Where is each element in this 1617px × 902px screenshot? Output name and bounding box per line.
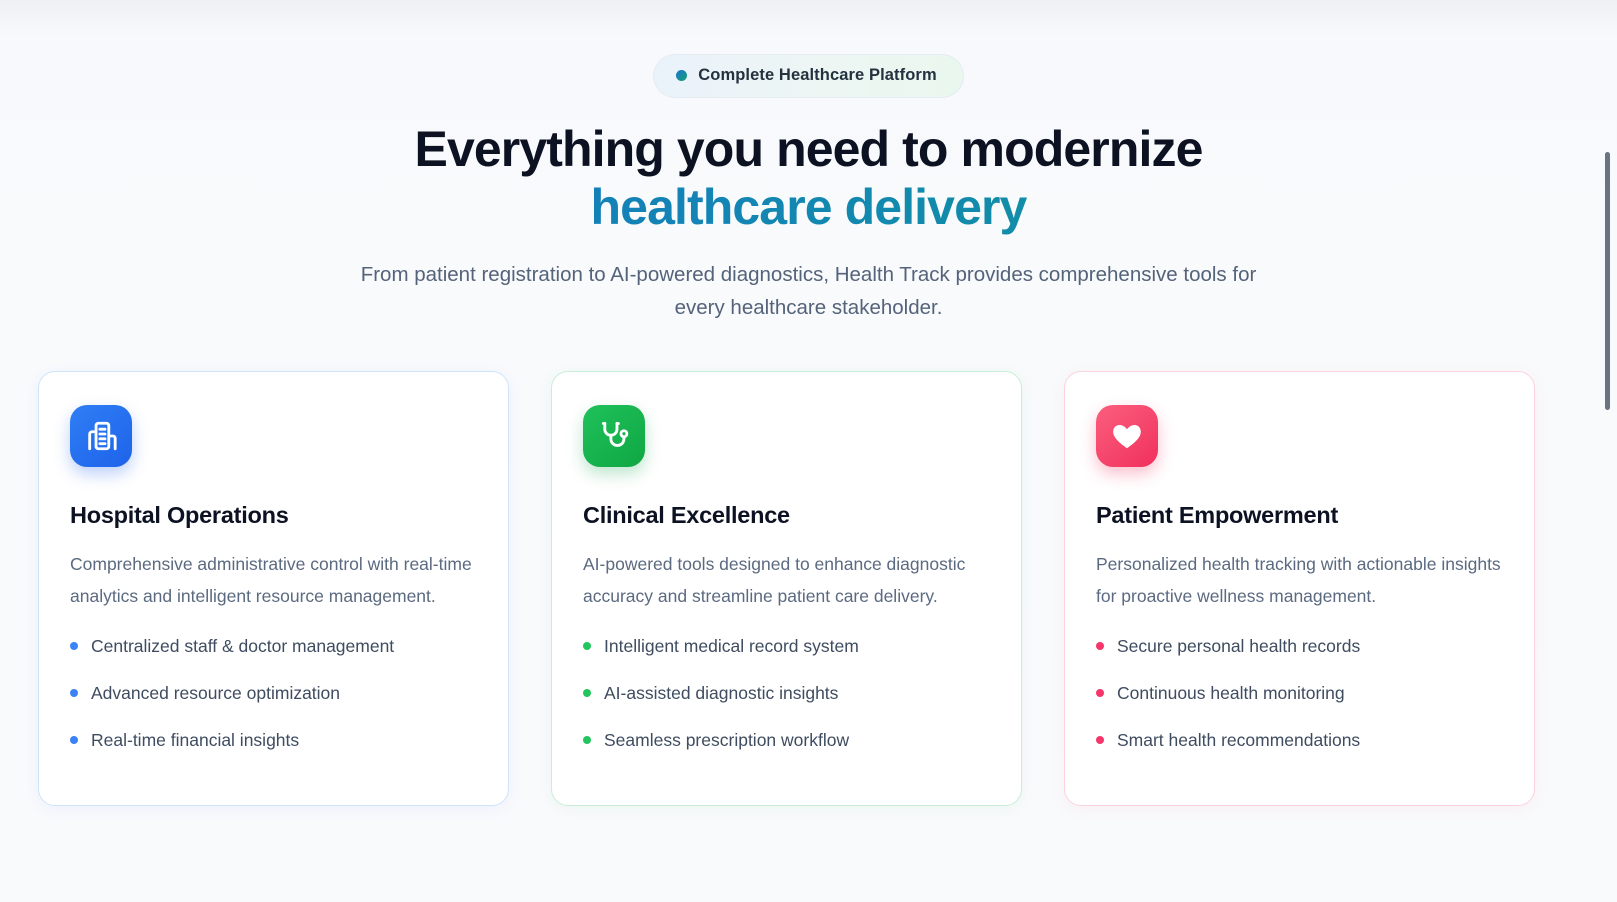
bullet-dot-icon bbox=[583, 689, 591, 697]
card-description: Comprehensive administrative control wit… bbox=[70, 549, 477, 612]
list-item-label: Intelligent medical record system bbox=[604, 634, 859, 658]
list-item: Intelligent medical record system bbox=[583, 634, 990, 658]
status-dot-icon bbox=[676, 70, 687, 81]
card-description: AI-powered tools designed to enhance dia… bbox=[583, 549, 990, 612]
list-item: Seamless prescription workflow bbox=[583, 728, 990, 752]
list-item-label: AI-assisted diagnostic insights bbox=[604, 681, 838, 705]
list-item: Continuous health monitoring bbox=[1096, 681, 1503, 705]
page-subtitle: From patient registration to AI-powered … bbox=[359, 258, 1259, 324]
bullet-dot-icon bbox=[70, 642, 78, 650]
bullet-dot-icon bbox=[583, 642, 591, 650]
card-feature-list: Intelligent medical record system AI-ass… bbox=[583, 634, 990, 752]
feature-card-grid: Hospital Operations Comprehensive admini… bbox=[38, 371, 1549, 806]
bullet-dot-icon bbox=[1096, 736, 1104, 744]
list-item: Centralized staff & doctor management bbox=[70, 634, 477, 658]
card-title: Clinical Excellence bbox=[583, 502, 990, 529]
list-item-label: Continuous health monitoring bbox=[1117, 681, 1345, 705]
list-item: Secure personal health records bbox=[1096, 634, 1503, 658]
list-item: Advanced resource optimization bbox=[70, 681, 477, 705]
scrollbar-thumb[interactable] bbox=[1605, 152, 1610, 410]
page-title-line-1: Everything you need to modernize bbox=[415, 121, 1203, 177]
card-title: Hospital Operations bbox=[70, 502, 477, 529]
card-feature-list: Centralized staff & doctor management Ad… bbox=[70, 634, 477, 752]
platform-badge-label: Complete Healthcare Platform bbox=[698, 66, 936, 85]
list-item-label: Real-time financial insights bbox=[91, 728, 299, 752]
platform-badge: Complete Healthcare Platform bbox=[653, 54, 963, 98]
list-item-label: Secure personal health records bbox=[1117, 634, 1360, 658]
feature-card-clinical-excellence[interactable]: Clinical Excellence AI-powered tools des… bbox=[551, 371, 1022, 806]
page-scrollbar[interactable] bbox=[1602, 0, 1617, 902]
list-item-label: Centralized staff & doctor management bbox=[91, 634, 394, 658]
page-title: Everything you need to modernize healthc… bbox=[0, 120, 1617, 236]
hospital-building-icon bbox=[70, 405, 132, 467]
stethoscope-icon bbox=[583, 405, 645, 467]
list-item-label: Smart health recommendations bbox=[1117, 728, 1360, 752]
card-title: Patient Empowerment bbox=[1096, 502, 1503, 529]
list-item: Smart health recommendations bbox=[1096, 728, 1503, 752]
badge-row: Complete Healthcare Platform bbox=[0, 54, 1617, 98]
card-description: Personalized health tracking with action… bbox=[1096, 549, 1503, 612]
bullet-dot-icon bbox=[70, 689, 78, 697]
heart-icon bbox=[1096, 405, 1158, 467]
list-item-label: Seamless prescription workflow bbox=[604, 728, 849, 752]
page-title-line-2: healthcare delivery bbox=[0, 178, 1617, 236]
list-item: Real-time financial insights bbox=[70, 728, 477, 752]
card-feature-list: Secure personal health records Continuou… bbox=[1096, 634, 1503, 752]
bullet-dot-icon bbox=[1096, 689, 1104, 697]
bullet-dot-icon bbox=[583, 736, 591, 744]
bullet-dot-icon bbox=[70, 736, 78, 744]
bullet-dot-icon bbox=[1096, 642, 1104, 650]
feature-card-hospital-operations[interactable]: Hospital Operations Comprehensive admini… bbox=[38, 371, 509, 806]
list-item: AI-assisted diagnostic insights bbox=[583, 681, 990, 705]
feature-card-patient-empowerment[interactable]: Patient Empowerment Personalized health … bbox=[1064, 371, 1535, 806]
features-section: Complete Healthcare Platform Everything … bbox=[0, 0, 1617, 902]
list-item-label: Advanced resource optimization bbox=[91, 681, 340, 705]
